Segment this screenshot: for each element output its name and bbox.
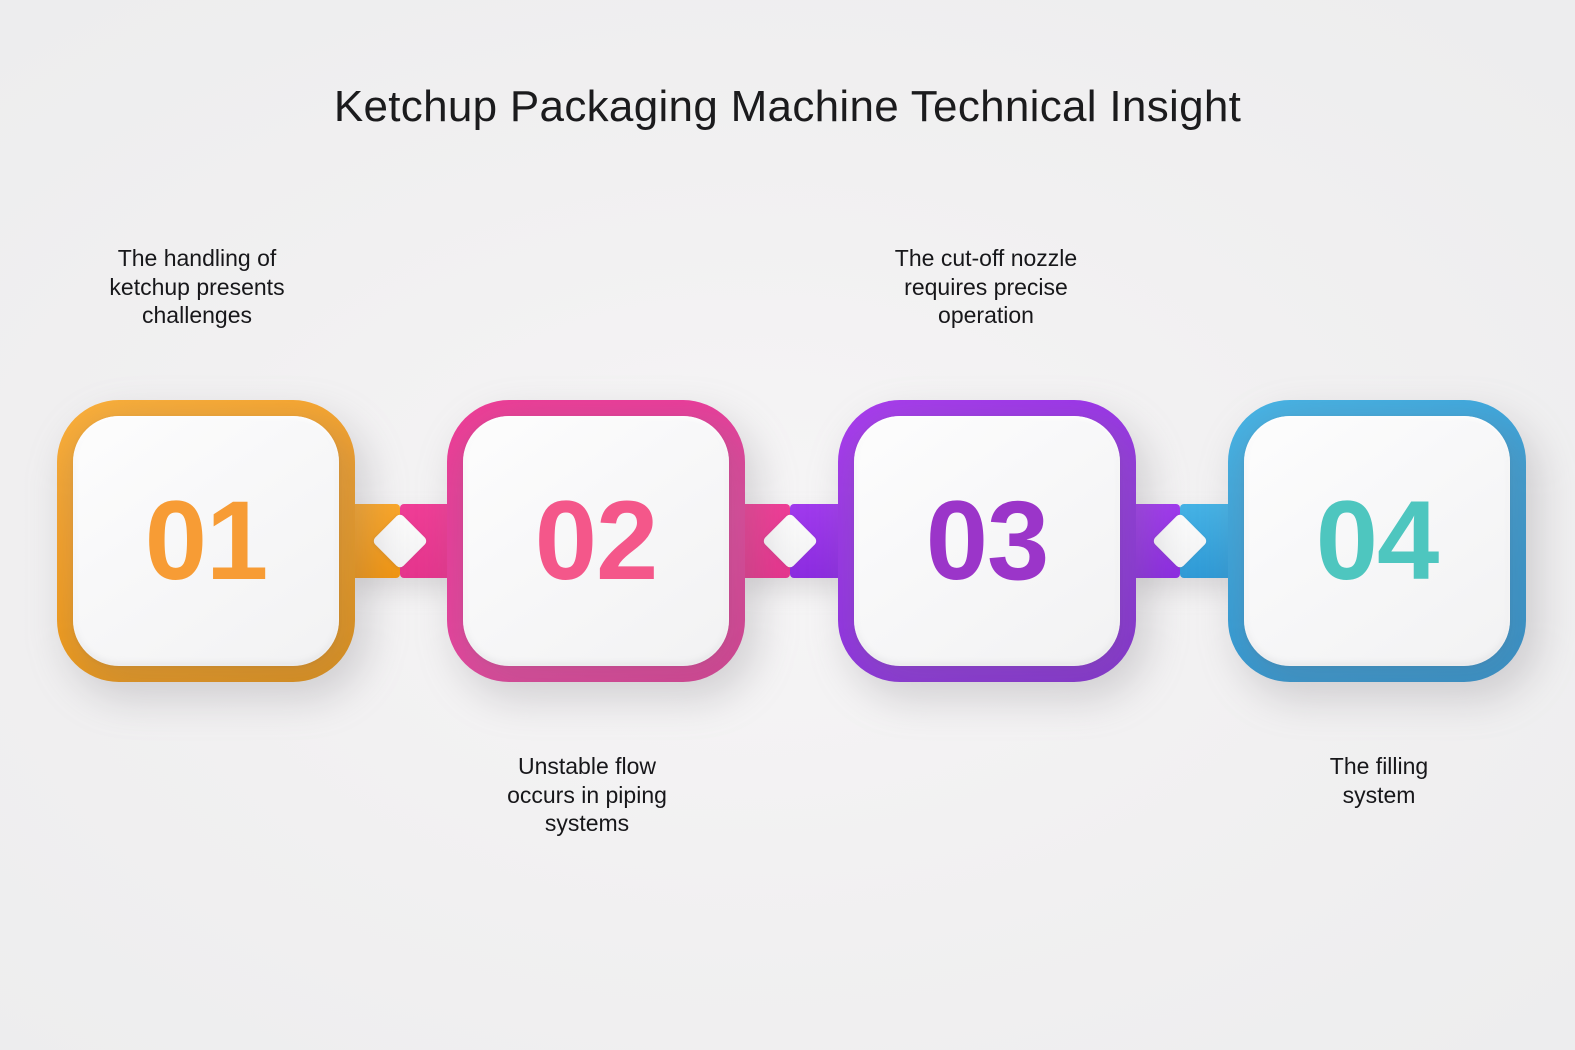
step-card-face: 02: [463, 416, 729, 666]
step-number-01: 01: [145, 485, 268, 597]
step-caption-02: Unstable flow occurs in piping systems: [458, 752, 716, 838]
step-card-02[interactable]: 02: [447, 400, 745, 682]
step-card-face: 04: [1244, 416, 1510, 666]
step-number-04: 04: [1316, 485, 1439, 597]
process-diagram: The handling of ketchup presents challen…: [0, 0, 1575, 1050]
step-card-03[interactable]: 03: [838, 400, 1136, 682]
step-card-face: 01: [73, 416, 339, 666]
step-card-04[interactable]: 04: [1228, 400, 1526, 682]
step-caption-04: The filling system: [1250, 752, 1508, 809]
step-number-02: 02: [535, 485, 658, 597]
step-caption-03: The cut-off nozzle requires precise oper…: [852, 244, 1120, 330]
step-card-face: 03: [854, 416, 1120, 666]
step-card-01[interactable]: 01: [57, 400, 355, 682]
step-number-03: 03: [926, 485, 1049, 597]
step-caption-01: The handling of ketchup presents challen…: [68, 244, 326, 330]
